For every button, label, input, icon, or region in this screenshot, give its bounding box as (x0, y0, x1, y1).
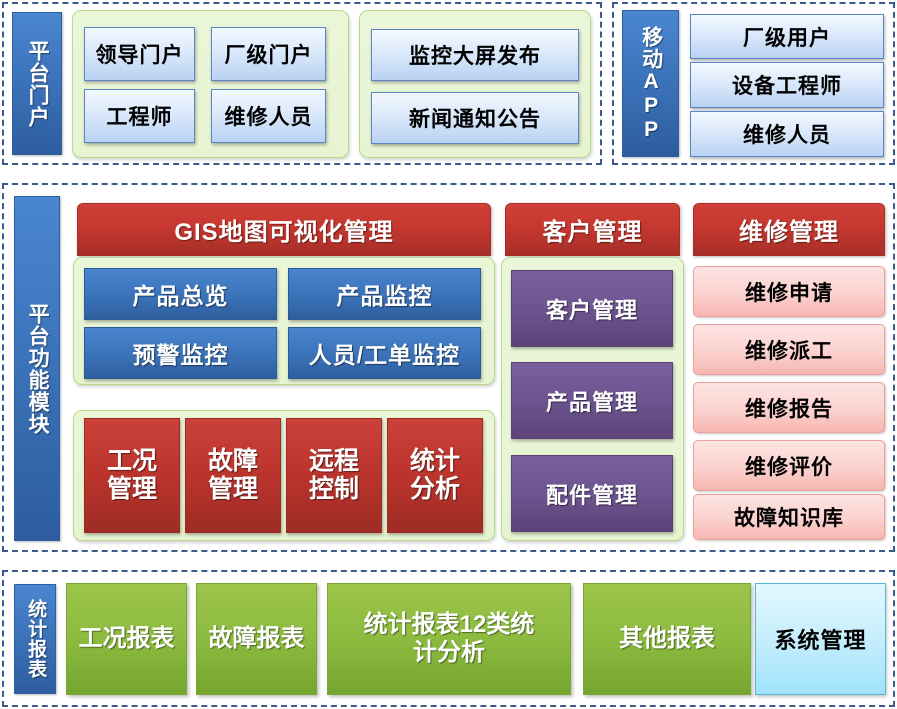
maintenance-header[interactable]: 维修管理 (693, 203, 885, 256)
maintenance-item-fault-knowledge-base-label: 故障知识库 (734, 502, 844, 532)
gis-item-product-overview-label: 产品总览 (133, 277, 229, 311)
sidebar-platform-modules-label: 平台功能模块 (26, 303, 48, 435)
portal-item-repair-staff-label: 维修人员 (225, 101, 313, 131)
maintenance-item-repair-report[interactable]: 维修报告 (693, 382, 885, 433)
module-tile-remote-control-label: 远程控制 (309, 448, 359, 503)
report-item-fault-report-label: 故障报表 (209, 625, 305, 653)
report-item-other-reports-label: 其他报表 (619, 625, 715, 653)
portal-item-factory-label: 厂级门户 (225, 39, 313, 69)
gis-item-product-overview[interactable]: 产品总览 (84, 268, 277, 320)
portal-item-engineer[interactable]: 工程师 (84, 89, 195, 143)
maintenance-item-repair-dispatch[interactable]: 维修派工 (693, 324, 885, 375)
portal-item-leader[interactable]: 领导门户 (84, 27, 195, 81)
maintenance-item-repair-dispatch-label: 维修派工 (745, 335, 833, 365)
mobile-item-equipment-engineer-label: 设备工程师 (732, 70, 842, 100)
portal-item-repair-staff[interactable]: 维修人员 (211, 89, 326, 143)
sidebar-reports-label: 统计报表 (25, 599, 45, 679)
report-item-statistics-12-categories-label: 统计报表12类统计分析 (364, 611, 535, 666)
gis-item-product-monitor[interactable]: 产品监控 (288, 268, 481, 320)
portal-item-monitor-screen[interactable]: 监控大屏发布 (371, 29, 579, 81)
portal-item-factory[interactable]: 厂级门户 (211, 27, 326, 81)
customer-item-customer-management[interactable]: 客户管理 (511, 270, 673, 347)
architecture-diagram: 平台门户 领导门户 厂级门户 工程师 维修人员 监控大屏发布 新闻通知公告 移动… (0, 0, 897, 709)
module-tile-fault-management[interactable]: 故障管理 (185, 418, 281, 533)
sidebar-platform-modules[interactable]: 平台功能模块 (14, 196, 60, 541)
customer-header-label: 客户管理 (543, 212, 643, 247)
sidebar-mobile-app-label: 移动APP (639, 26, 661, 142)
module-tile-remote-control[interactable]: 远程控制 (286, 418, 382, 533)
maintenance-item-fault-knowledge-base[interactable]: 故障知识库 (693, 494, 885, 540)
module-tile-condition-management-label: 工况管理 (107, 448, 157, 503)
report-item-fault-report[interactable]: 故障报表 (196, 583, 317, 695)
customer-item-product-management-label: 产品管理 (546, 385, 638, 417)
portal-item-news-notice[interactable]: 新闻通知公告 (371, 92, 579, 144)
maintenance-item-repair-evaluation-label: 维修评价 (745, 451, 833, 481)
gis-item-staff-order-monitor-label: 人员/工单监控 (309, 336, 460, 370)
gis-item-product-monitor-label: 产品监控 (337, 277, 433, 311)
mobile-item-equipment-engineer[interactable]: 设备工程师 (690, 62, 884, 108)
mobile-item-factory-user-label: 厂级用户 (743, 22, 831, 52)
report-item-condition-report[interactable]: 工况报表 (66, 583, 187, 695)
maintenance-item-repair-report-label: 维修报告 (745, 393, 833, 423)
module-tile-condition-management[interactable]: 工况管理 (84, 418, 180, 533)
gis-header[interactable]: GIS地图可视化管理 (77, 203, 491, 256)
customer-item-parts-management[interactable]: 配件管理 (511, 455, 673, 532)
module-tile-statistics-analysis-label: 统计分析 (410, 448, 460, 503)
mobile-item-factory-user[interactable]: 厂级用户 (690, 14, 884, 59)
sidebar-portal-label: 平台门户 (26, 40, 48, 128)
module-tile-fault-management-label: 故障管理 (208, 448, 258, 503)
customer-item-customer-management-label: 客户管理 (546, 293, 638, 325)
portal-item-monitor-screen-label: 监控大屏发布 (409, 40, 541, 70)
sidebar-mobile-app[interactable]: 移动APP (622, 10, 679, 157)
portal-item-leader-label: 领导门户 (96, 39, 184, 69)
gis-header-label: GIS地图可视化管理 (174, 212, 393, 247)
mobile-item-repair-staff-label: 维修人员 (743, 119, 831, 149)
module-tile-statistics-analysis[interactable]: 统计分析 (387, 418, 483, 533)
maintenance-header-label: 维修管理 (739, 212, 839, 247)
maintenance-item-repair-request[interactable]: 维修申请 (693, 266, 885, 317)
maintenance-item-repair-evaluation[interactable]: 维修评价 (693, 440, 885, 491)
report-item-other-reports[interactable]: 其他报表 (583, 583, 751, 695)
customer-header[interactable]: 客户管理 (505, 203, 680, 256)
report-item-system-management[interactable]: 系统管理 (755, 583, 886, 695)
customer-item-parts-management-label: 配件管理 (546, 478, 638, 510)
report-item-system-management-label: 系统管理 (774, 623, 866, 655)
portal-item-engineer-label: 工程师 (107, 101, 173, 131)
sidebar-portal[interactable]: 平台门户 (12, 12, 62, 155)
report-item-statistics-12-categories[interactable]: 统计报表12类统计分析 (327, 583, 571, 695)
gis-item-alarm-monitor-label: 预警监控 (133, 336, 229, 370)
maintenance-item-repair-request-label: 维修申请 (745, 277, 833, 307)
sidebar-reports[interactable]: 统计报表 (14, 584, 56, 694)
gis-item-staff-order-monitor[interactable]: 人员/工单监控 (288, 327, 481, 379)
gis-item-alarm-monitor[interactable]: 预警监控 (84, 327, 277, 379)
report-item-condition-report-label: 工况报表 (79, 625, 175, 653)
customer-item-product-management[interactable]: 产品管理 (511, 362, 673, 439)
mobile-item-repair-staff[interactable]: 维修人员 (690, 111, 884, 157)
portal-item-news-notice-label: 新闻通知公告 (409, 103, 541, 133)
